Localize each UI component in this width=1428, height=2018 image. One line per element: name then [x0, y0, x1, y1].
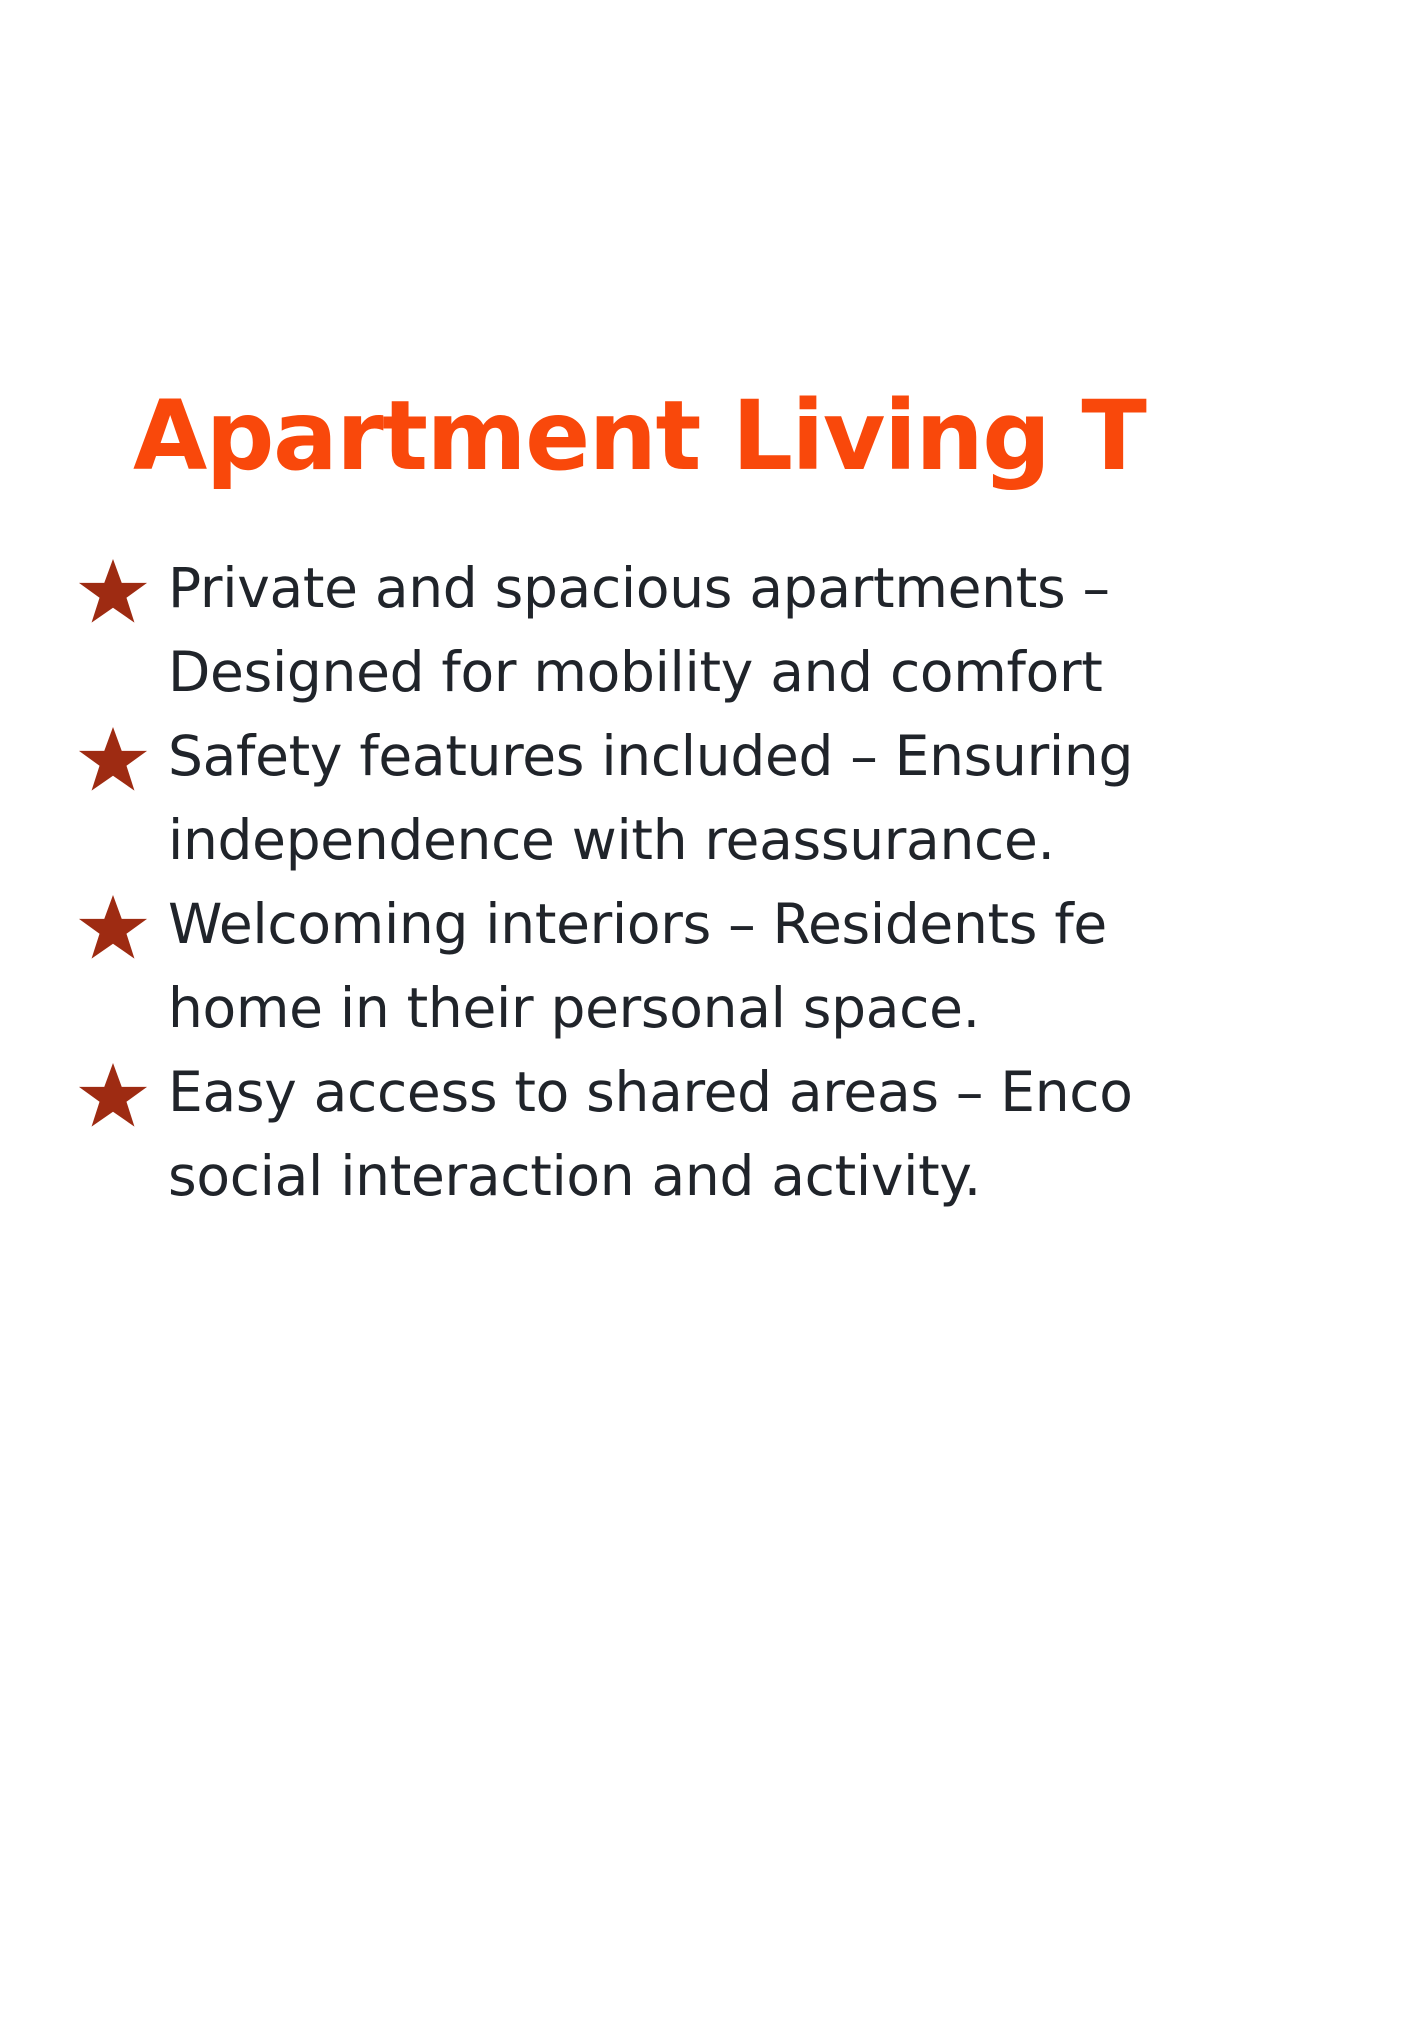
list-item-text: Welcoming interiors – Residents fe home …	[168, 882, 1428, 1050]
star-icon	[76, 1060, 150, 1134]
list-item: Safety features included – Ensuring inde…	[76, 714, 1428, 882]
list-item-line: home in their personal space.	[168, 966, 1428, 1050]
bullet-list: Private and spacious apartments – Design…	[76, 546, 1428, 1218]
list-item-text: Safety features included – Ensuring inde…	[168, 714, 1428, 882]
star-icon	[76, 892, 150, 966]
list-item: Private and spacious apartments – Design…	[76, 546, 1428, 714]
list-item-line: Designed for mobility and comfort	[168, 630, 1428, 714]
list-item-line: Welcoming interiors – Residents fe	[168, 882, 1428, 966]
list-item: Easy access to shared areas – Enco socia…	[76, 1050, 1428, 1218]
star-icon	[76, 724, 150, 798]
list-item-text: Easy access to shared areas – Enco socia…	[168, 1050, 1428, 1218]
list-item-line: Private and spacious apartments –	[168, 546, 1428, 630]
slide-canvas: Apartment Living T Private and spacious …	[0, 0, 1428, 2018]
star-icon	[76, 556, 150, 630]
list-item-line: independence with reassurance.	[168, 798, 1428, 882]
list-item-line: social interaction and activity.	[168, 1134, 1428, 1218]
list-item-line: Easy access to shared areas – Enco	[168, 1050, 1428, 1134]
page-title: Apartment Living T	[133, 380, 1428, 493]
list-item: Welcoming interiors – Residents fe home …	[76, 882, 1428, 1050]
list-item-text: Private and spacious apartments – Design…	[168, 546, 1428, 714]
list-item-line: Safety features included – Ensuring	[168, 714, 1428, 798]
